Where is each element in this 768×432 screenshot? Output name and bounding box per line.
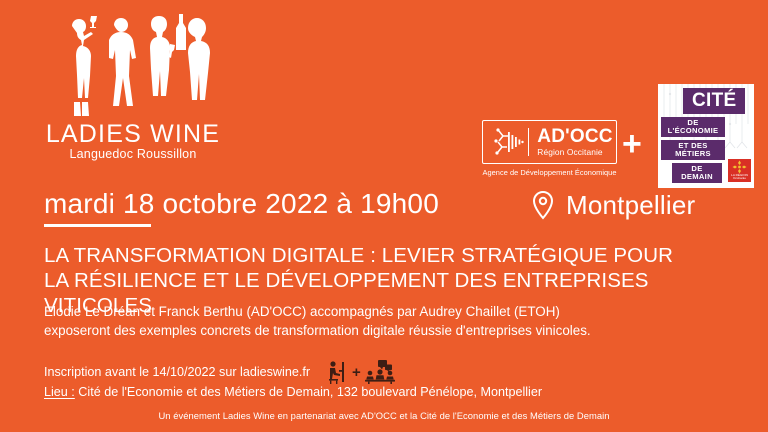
- description-line-1: Elodie Le Dréan et Franck Berthu (AD'OCC…: [44, 302, 684, 321]
- registration-icons: +: [326, 360, 395, 384]
- occitanie-emblem: LA RÉGIONOccitanie: [728, 159, 751, 182]
- cite-logo: CITÉ DE L'ÉCONOMIE ET DES MÉTIERS DE DEM…: [658, 84, 754, 188]
- occitanie-emblem-label: LA RÉGIONOccitanie: [728, 174, 751, 180]
- cite-title: CITÉ: [683, 88, 745, 114]
- logo-subtitle: Languedoc Roussillon: [38, 148, 228, 161]
- event-poster: LADIES WINE Languedoc Roussillon: [0, 0, 768, 432]
- city-name: Montpellier: [566, 192, 695, 218]
- logo-title: LADIES WINE: [38, 122, 228, 147]
- partners-plus-separator: +: [622, 127, 642, 161]
- partner-logos: AD'OCC Région Occitanie Agence de Dévelo…: [482, 82, 756, 190]
- venue-value: Cité de l'Economie et des Métiers de Dem…: [75, 385, 542, 399]
- registration-text: Inscription avant le 14/10/2022 sur ladi…: [44, 365, 310, 379]
- description-line-2: exposeront des exemples concrets de tran…: [44, 321, 684, 340]
- group-meeting-icon: [365, 360, 395, 384]
- map-pin-icon: [530, 190, 556, 220]
- date-underline-rule: [44, 224, 151, 227]
- cite-text-bands: CITÉ DE L'ÉCONOMIE ET DES MÉTIERS DE DEM…: [661, 88, 751, 183]
- venue-label: Lieu :: [44, 385, 75, 399]
- adocc-logo-box: AD'OCC Région Occitanie: [482, 120, 617, 164]
- event-date: mardi 18 octobre 2022 à 19h00: [44, 190, 439, 218]
- cite-line4: DE DEMAIN: [672, 163, 722, 183]
- adocc-name: AD'OCC: [537, 127, 612, 146]
- four-women-silhouettes-icon: [38, 14, 228, 122]
- headline-line-1: LA TRANSFORMATION DIGITALE : LEVIER STRA…: [44, 243, 744, 268]
- adocc-region: Région Occitanie: [537, 148, 612, 156]
- venue-info: Lieu : Cité de l'Economie et des Métiers…: [44, 385, 542, 399]
- adocc-logo: AD'OCC Région Occitanie Agence de Dévelo…: [482, 120, 617, 177]
- occitan-cross-icon: [490, 127, 524, 157]
- ladies-wine-logo: LADIES WINE Languedoc Roussillon: [38, 14, 228, 164]
- person-at-desk-icon: [326, 360, 348, 384]
- footer-credit: Un événement Ladies Wine en partenariat …: [0, 410, 768, 421]
- event-description: Elodie Le Dréan et Franck Berthu (AD'OCC…: [44, 302, 684, 341]
- registration-plus: +: [352, 365, 361, 380]
- event-location: Montpellier: [530, 190, 695, 220]
- adocc-caption: Agence de Développement Économique: [482, 168, 617, 177]
- cite-line2: DE L'ÉCONOMIE: [661, 117, 725, 137]
- cite-line3: ET DES MÉTIERS: [661, 140, 725, 160]
- registration-info: Inscription avant le 14/10/2022 sur ladi…: [44, 360, 395, 384]
- occitanie-cross-icon: [732, 160, 747, 174]
- adocc-divider: [528, 128, 529, 156]
